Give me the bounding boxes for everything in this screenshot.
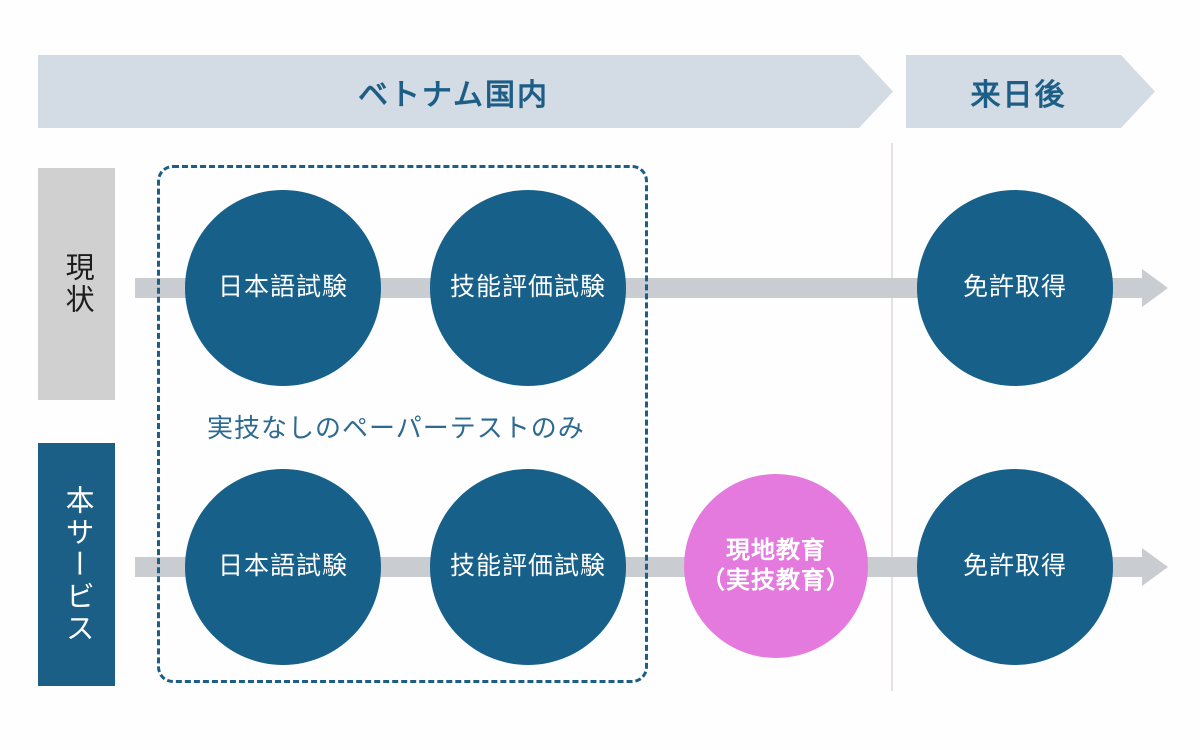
step-circle-row2-local-training[interactable]: 現地教育 （実技教育） — [684, 474, 868, 658]
step-circle-row2-skill-exam[interactable]: 技能評価試験 — [430, 469, 626, 665]
step-circle-row1-skill-exam[interactable]: 技能評価試験 — [430, 190, 626, 386]
row-label-service-text: 本サービス — [61, 485, 92, 645]
step-circle-row1-japanese-exam[interactable]: 日本語試験 — [185, 190, 381, 386]
step-circle-row2-skill-exam-label: 技能評価試験 — [450, 551, 606, 582]
flow-arrow-head-row2 — [1142, 548, 1168, 586]
step-circle-row1-japanese-exam-label: 日本語試験 — [218, 272, 348, 303]
row-label-service: 本サービス — [38, 443, 115, 686]
phase-banner-japan-label: 来日後 — [971, 70, 1067, 114]
step-circle-row1-license-label: 免許取得 — [963, 272, 1067, 303]
step-circle-row2-license-label: 免許取得 — [963, 551, 1067, 582]
phase-banner-vietnam-label: ベトナム国内 — [358, 70, 549, 114]
row-label-current-text: 現状 — [61, 252, 92, 316]
phase-divider — [891, 143, 893, 691]
flow-arrow-head-row1 — [1142, 269, 1168, 307]
step-circle-row2-license[interactable]: 免許取得 — [917, 469, 1113, 665]
paper-test-note-text: 実技なしのペーパーテストのみ — [207, 413, 585, 443]
phase-banner-vietnam: ベトナム国内 — [38, 55, 893, 128]
step-circle-row1-license[interactable]: 免許取得 — [917, 190, 1113, 386]
paper-test-note: 実技なしのペーパーテストのみ — [207, 408, 585, 445]
step-circle-row2-japanese-exam[interactable]: 日本語試験 — [185, 469, 381, 665]
step-circle-row2-japanese-exam-label: 日本語試験 — [218, 551, 348, 582]
phase-banner-japan: 来日後 — [906, 55, 1155, 128]
step-circle-row1-skill-exam-label: 技能評価試験 — [450, 272, 606, 303]
row-label-current: 現状 — [38, 168, 115, 400]
step-circle-row2-local-training-label: 現地教育 （実技教育） — [701, 536, 851, 596]
diagram-canvas: ベトナム国内 来日後 現状 本サービス 日本語試験 技能評価試験 免許取得 実技… — [0, 0, 1200, 750]
